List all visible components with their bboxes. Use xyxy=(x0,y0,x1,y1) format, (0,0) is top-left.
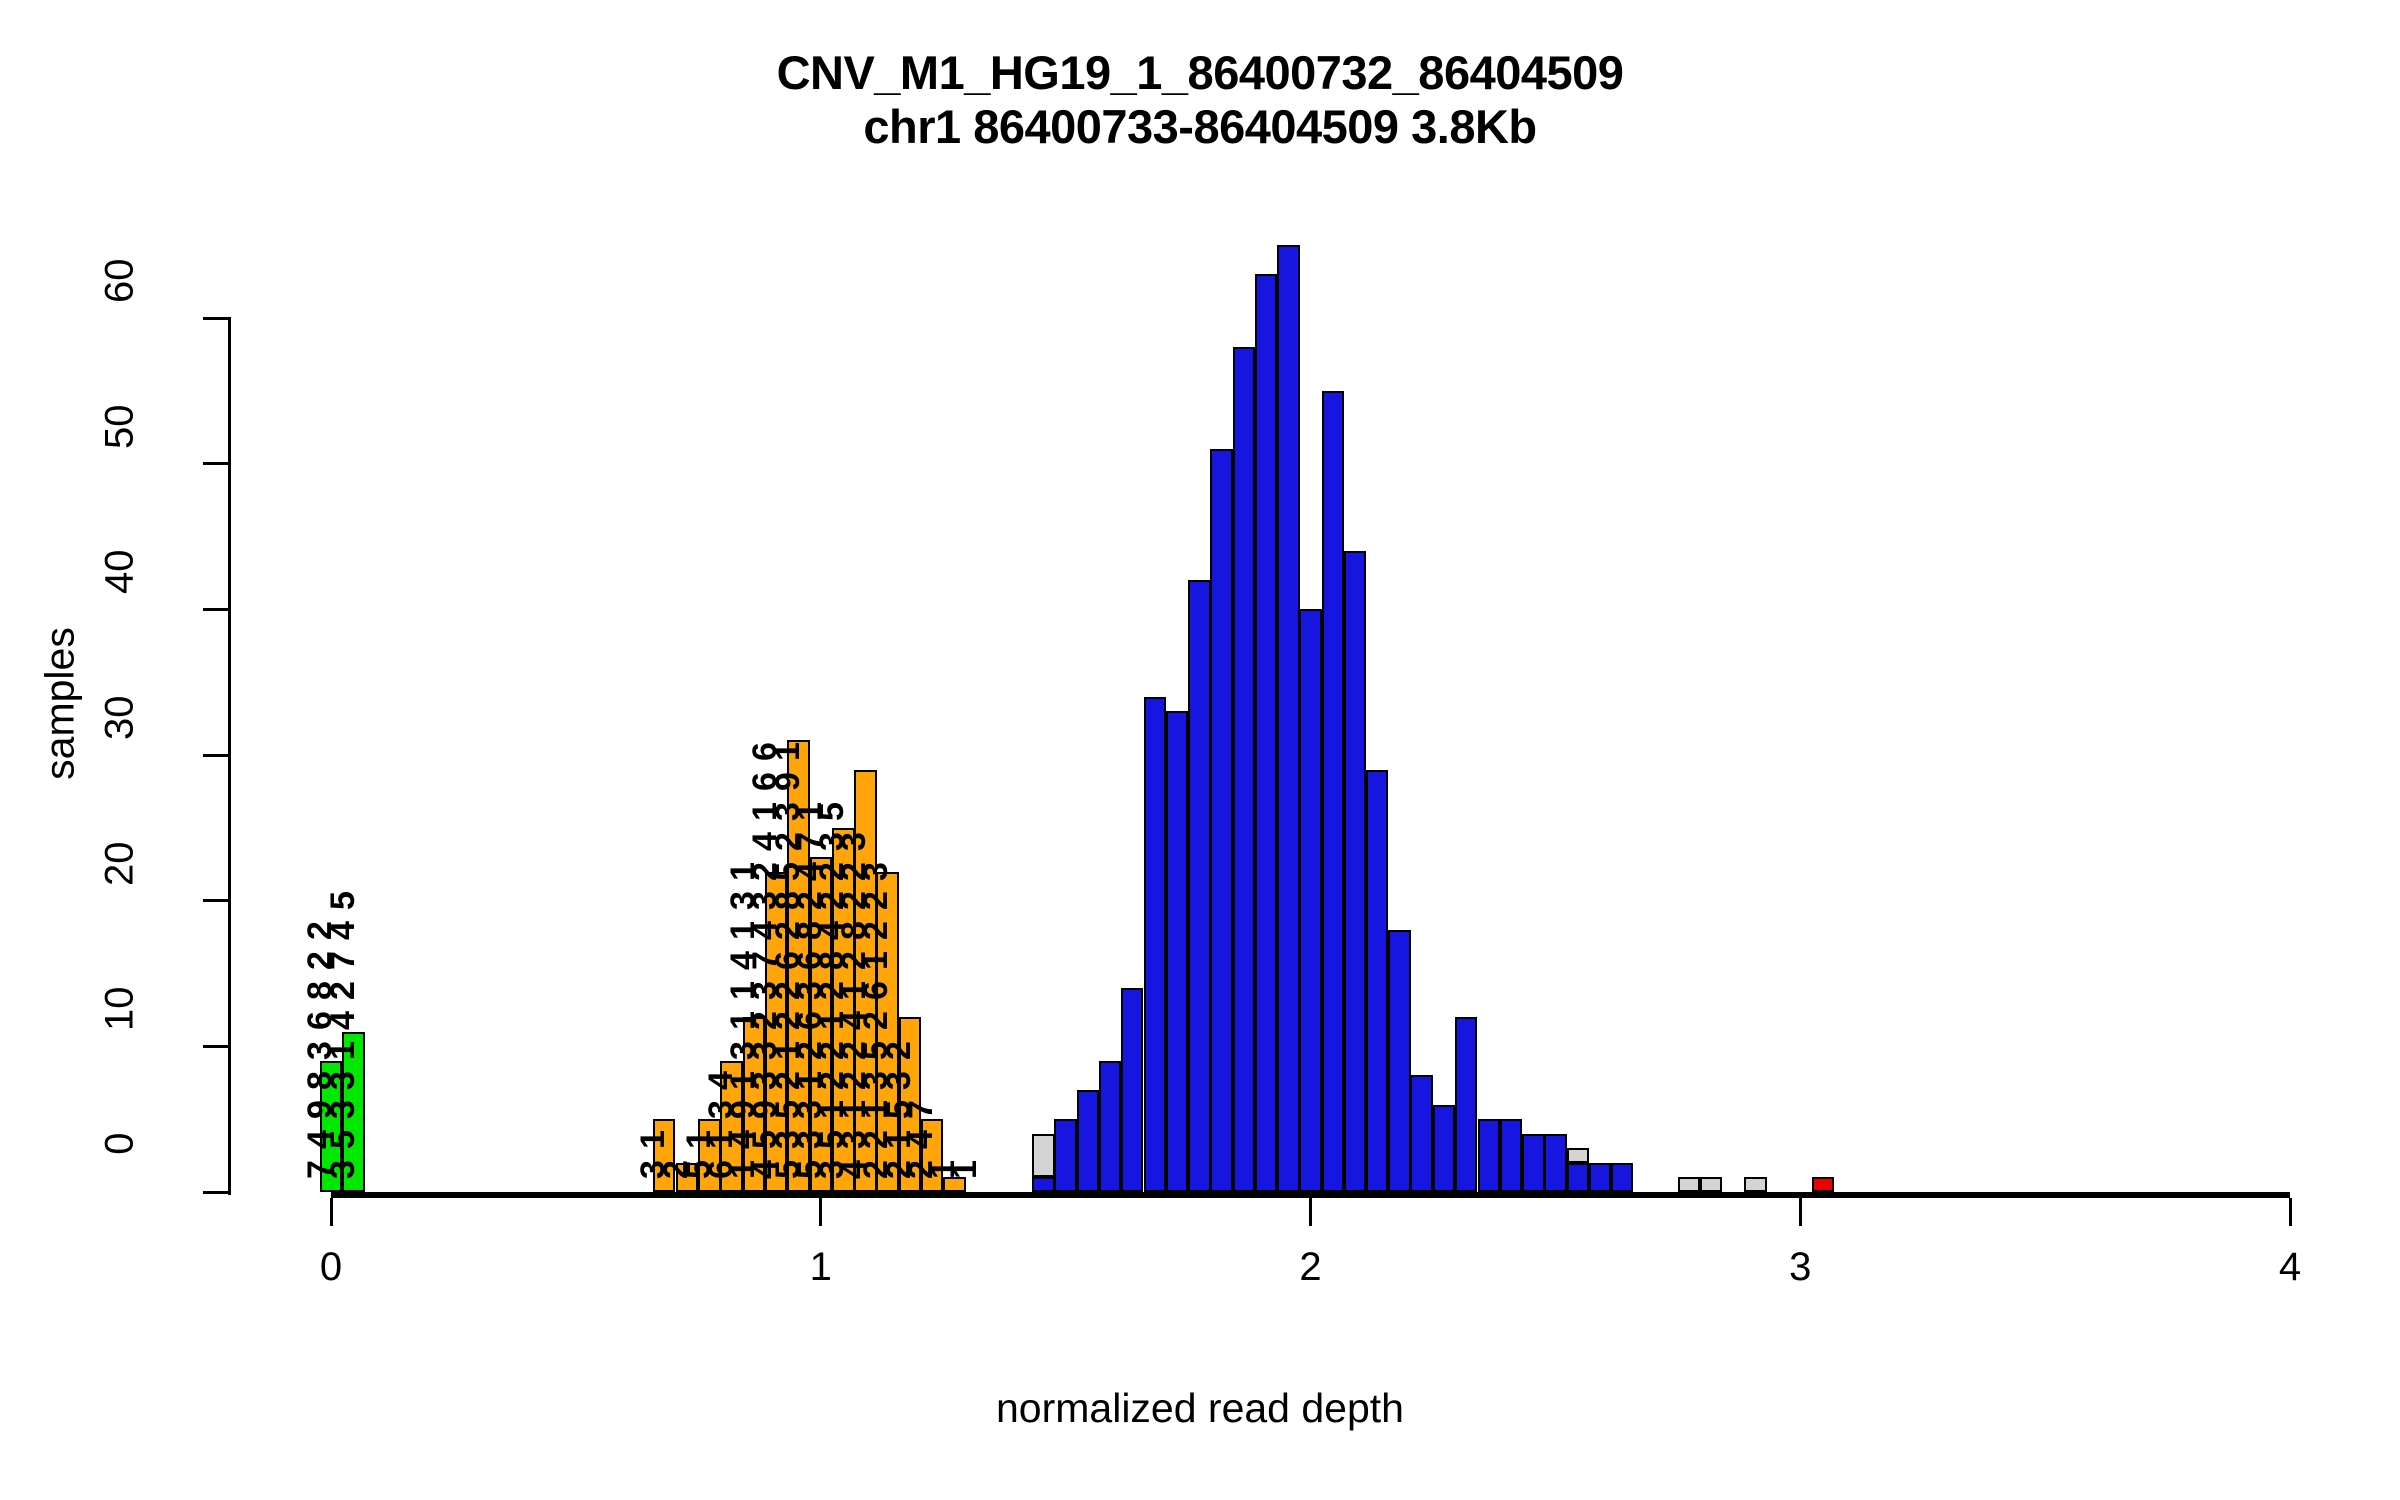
sample-index-label: 6 xyxy=(748,743,782,761)
histogram-bar-segment xyxy=(1255,274,1278,1192)
sample-index-label: 3 xyxy=(726,892,760,910)
histogram-bar-segment xyxy=(765,872,788,1192)
histogram-bar-segment xyxy=(810,857,833,1192)
histogram-bar-segment xyxy=(1611,1163,1634,1192)
y-axis-tick-label: 40 xyxy=(98,550,143,670)
histogram-bar-segment xyxy=(1522,1134,1545,1192)
sample-index-label: 4 xyxy=(726,952,760,970)
y-axis-tick xyxy=(203,899,231,902)
sample-index-label: 6 xyxy=(748,773,782,791)
histogram-bar-segment xyxy=(787,740,810,1192)
sample-index-label: 6 xyxy=(303,1012,337,1030)
histogram-bar-segment xyxy=(1077,1090,1100,1192)
histogram-bar-segment xyxy=(1032,1177,1055,1192)
sample-index-label: 1 xyxy=(948,1161,982,1179)
histogram-bar-segment xyxy=(1455,1017,1478,1192)
histogram-bar-segment xyxy=(1544,1134,1567,1192)
y-axis-tick xyxy=(203,317,231,320)
sample-index-label: 2 xyxy=(303,922,337,940)
y-axis-tick xyxy=(203,608,231,611)
y-axis-tick-label: 30 xyxy=(98,696,143,816)
y-axis-tick xyxy=(203,1045,231,1048)
histogram-bar-segment xyxy=(1166,711,1189,1192)
y-axis-title: samples xyxy=(37,584,84,824)
sample-index-label: 4 xyxy=(748,833,782,851)
sample-index-label: 2 xyxy=(326,982,360,1000)
y-axis-tick xyxy=(203,754,231,757)
x-axis-tick xyxy=(1799,1198,1802,1226)
sample-index-label: 1 xyxy=(726,863,760,881)
histogram-bar-segment xyxy=(1210,449,1233,1192)
histogram-bar-segment xyxy=(653,1119,676,1192)
x-axis-tick xyxy=(330,1198,333,1226)
sample-index-label: 1 xyxy=(748,803,782,821)
plot-area: 0102030405060 01234 74983682235331427453… xyxy=(0,0,2400,1500)
x-axis-tick-label: 2 xyxy=(1271,1245,1351,1290)
histogram-bar-segment xyxy=(1233,347,1256,1192)
histogram-bar-segment xyxy=(854,770,877,1192)
histogram-bar-segment xyxy=(1433,1105,1456,1192)
histogram-bar-segment xyxy=(1500,1119,1523,1192)
histogram-bar-segment xyxy=(1589,1163,1612,1192)
y-axis-tick-label: 50 xyxy=(98,404,143,524)
histogram-bar-segment xyxy=(921,1119,944,1192)
histogram-bar-segment xyxy=(698,1119,721,1192)
histogram-bar-segment xyxy=(899,1017,922,1192)
histogram-bar-segment xyxy=(943,1177,966,1192)
y-axis-line xyxy=(228,318,231,1195)
histogram-bar-segment xyxy=(720,1061,743,1192)
histogram-bar-segment xyxy=(1054,1119,1077,1192)
y-axis-tick-label: 60 xyxy=(98,259,143,379)
histogram-bar-segment xyxy=(1144,697,1167,1192)
sample-index-label: 7 xyxy=(326,952,360,970)
sample-index-label: 2 xyxy=(303,952,337,970)
y-axis-tick-label: 20 xyxy=(98,841,143,961)
x-axis-tick xyxy=(1309,1198,1312,1226)
histogram-bar-segment xyxy=(876,872,899,1192)
histogram-bar-segment xyxy=(1388,930,1411,1192)
x-axis-tick-label: 1 xyxy=(781,1245,861,1290)
histogram-bar-segment xyxy=(1121,988,1144,1192)
sample-index-label: 4 xyxy=(326,922,360,940)
x-axis-tick xyxy=(819,1198,822,1226)
histogram-bar-segment xyxy=(1322,391,1345,1192)
y-axis-tick-label: 10 xyxy=(98,987,143,1107)
sample-index-label: 8 xyxy=(303,982,337,1000)
histogram-bar-segment xyxy=(1410,1075,1433,1192)
histogram-bar-segment xyxy=(1188,580,1211,1192)
x-axis-tick-label: 0 xyxy=(291,1245,371,1290)
sample-index-label: 1 xyxy=(726,922,760,940)
y-axis-tick xyxy=(203,462,231,465)
sample-index-label: 1 xyxy=(726,982,760,1000)
histogram-bar-segment xyxy=(1678,1177,1701,1192)
x-axis-tick-label: 3 xyxy=(1760,1245,1840,1290)
x-axis-tick-label: 4 xyxy=(2250,1245,2330,1290)
histogram-bar-segment xyxy=(1567,1163,1590,1192)
histogram-bar-segment xyxy=(1744,1177,1767,1192)
histogram-bar-segment xyxy=(743,1017,766,1192)
x-axis-tick xyxy=(2289,1198,2292,1226)
histogram-bar-segment xyxy=(1299,609,1322,1192)
sample-index-label: 5 xyxy=(326,892,360,910)
y-axis-tick xyxy=(203,1191,231,1194)
sample-index-label: 5 xyxy=(815,803,849,821)
histogram-bar-segment xyxy=(1812,1177,1835,1192)
histogram-bar-segment xyxy=(1567,1148,1590,1163)
histogram-bar-segment xyxy=(1344,551,1367,1192)
y-axis-tick-label: 0 xyxy=(98,1133,143,1253)
histogram-bar-segment xyxy=(320,1061,343,1192)
histogram-bar-segment xyxy=(1032,1134,1055,1178)
x-axis-title: normalized read depth xyxy=(0,1385,2400,1432)
sample-index-label: 3 xyxy=(303,1042,337,1060)
histogram-bar-segment xyxy=(832,828,855,1192)
histogram-figure: CNV_M1_HG19_1_86400732_86404509 chr1 864… xyxy=(0,0,2400,1500)
histogram-bar-segment xyxy=(1700,1177,1723,1192)
histogram-bar-segment xyxy=(1277,245,1300,1192)
histogram-bar-segment xyxy=(1099,1061,1122,1192)
histogram-bar-segment xyxy=(342,1032,365,1192)
histogram-bar-segment xyxy=(1366,770,1389,1192)
histogram-bar-segment xyxy=(676,1163,699,1192)
sample-index-label: 4 xyxy=(326,1012,360,1030)
histogram-bar-segment xyxy=(1478,1119,1501,1192)
